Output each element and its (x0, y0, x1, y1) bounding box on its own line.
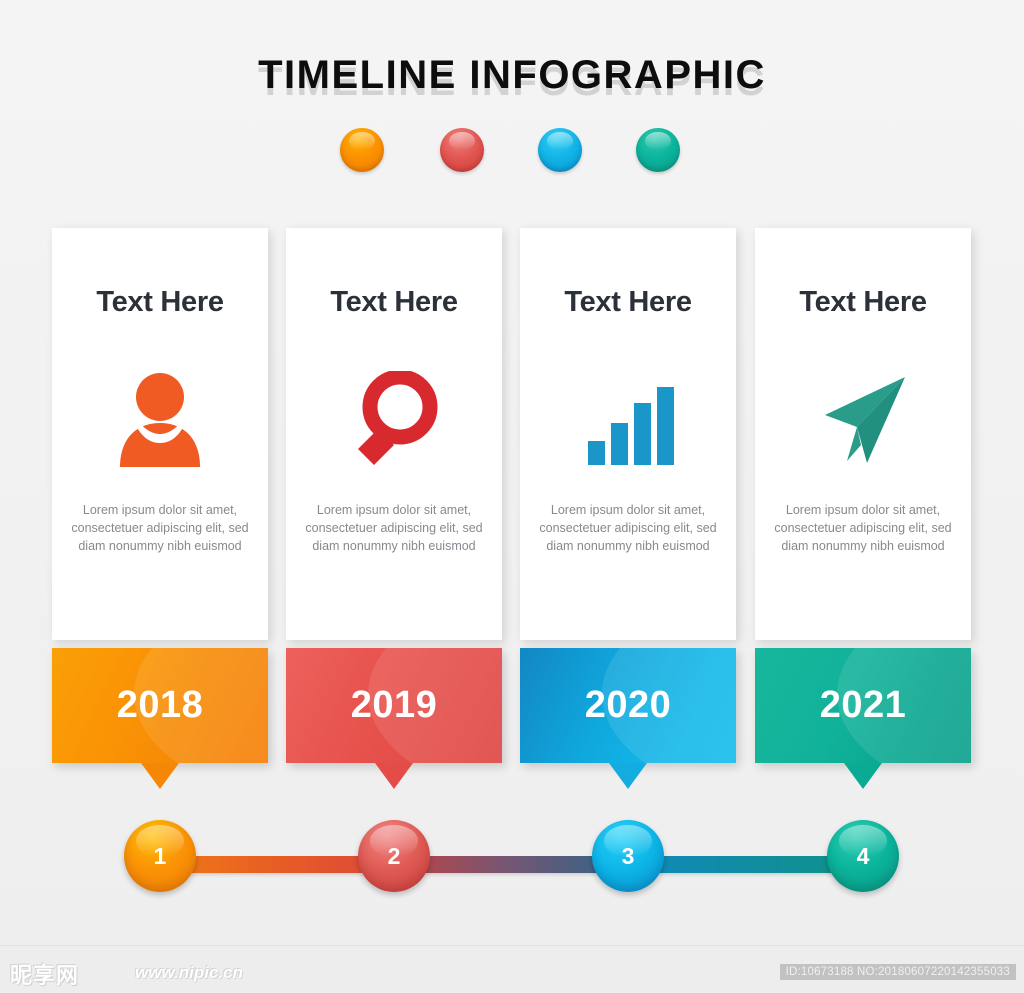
card-title: Text Here (520, 286, 736, 319)
infographic-canvas: TIMELINE INFOGRAPHIC TIMELINE INFOGRAPHI… (0, 0, 1024, 993)
year-banner-2021[interactable]: 2021 (755, 648, 971, 763)
banner-pointer (844, 763, 882, 789)
card-title: Text Here (755, 286, 971, 319)
banner-pointer (609, 763, 647, 789)
card-description: Lorem ipsum dolor sit amet, consectetuer… (773, 501, 953, 555)
timeline-step-number: 3 (622, 843, 635, 870)
timeline-step-1[interactable]: 1 (124, 820, 196, 892)
top-dot-orange (340, 128, 384, 172)
year-banner-2019[interactable]: 2019 (286, 648, 502, 763)
watermark-logo: 昵享网 (10, 958, 79, 990)
card-description: Lorem ipsum dolor sit amet, consectetuer… (538, 501, 718, 555)
watermark-url: www.nipic.cn (135, 963, 243, 983)
person-icon (52, 359, 268, 479)
paper-plane-icon (755, 359, 971, 479)
year-label: 2018 (52, 648, 268, 763)
card-description: Lorem ipsum dolor sit amet, consectetuer… (304, 501, 484, 555)
card-2020[interactable]: Text Here Lorem ipsum dolor sit amet, co… (520, 228, 736, 640)
timeline-track: 1 2 3 4 (0, 820, 1024, 910)
year-banner-2018[interactable]: 2018 (52, 648, 268, 763)
page-title: TIMELINE INFOGRAPHIC TIMELINE INFOGRAPHI… (0, 45, 1024, 115)
top-dot-red (440, 128, 484, 172)
top-dot-blue (538, 128, 582, 172)
top-dot-teal (636, 128, 680, 172)
page-title-text: TIMELINE INFOGRAPHIC (0, 52, 1024, 98)
watermark-id: ID:10673188 NO:20180607220142355033 (780, 964, 1016, 980)
card-title: Text Here (52, 286, 268, 319)
magnifier-icon (286, 359, 502, 479)
card-title: Text Here (286, 286, 502, 319)
timeline-step-2[interactable]: 2 (358, 820, 430, 892)
banner-pointer (375, 763, 413, 789)
column-2021: Text Here Lorem ipsum dolor sit amet, co… (755, 228, 971, 763)
column-group: Text Here Lorem ipsum dolor sit amet, co… (52, 228, 972, 808)
timeline-step-4[interactable]: 4 (827, 820, 899, 892)
column-2019: Text Here Lorem ipsum dolor sit amet, co… (286, 228, 502, 763)
timeline-step-number: 2 (388, 843, 401, 870)
year-label: 2019 (286, 648, 502, 763)
timeline-step-number: 4 (857, 843, 870, 870)
card-2019[interactable]: Text Here Lorem ipsum dolor sit amet, co… (286, 228, 502, 640)
top-dot-row (340, 128, 684, 176)
column-2020: Text Here Lorem ipsum dolor sit amet, co… (520, 228, 736, 763)
timeline-step-3[interactable]: 3 (592, 820, 664, 892)
watermark-bar: 昵享网 www.nipic.cn ID:10673188 NO:20180607… (0, 945, 1024, 993)
bar-chart-icon (520, 359, 736, 479)
banner-pointer (141, 763, 179, 789)
card-description: Lorem ipsum dolor sit amet, consectetuer… (70, 501, 250, 555)
year-banner-2020[interactable]: 2020 (520, 648, 736, 763)
column-2018: Text Here Lorem ipsum dolor sit amet, co… (52, 228, 268, 763)
card-2021[interactable]: Text Here Lorem ipsum dolor sit amet, co… (755, 228, 971, 640)
year-label: 2021 (755, 648, 971, 763)
card-2018[interactable]: Text Here Lorem ipsum dolor sit amet, co… (52, 228, 268, 640)
year-label: 2020 (520, 648, 736, 763)
timeline-step-number: 1 (154, 843, 167, 870)
